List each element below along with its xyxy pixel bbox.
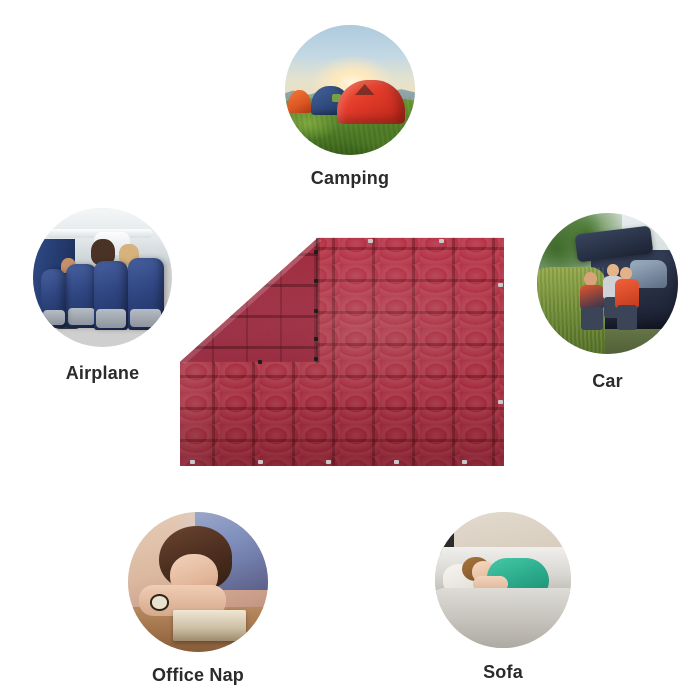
airplane-seat-2 <box>94 261 127 331</box>
blanket-body <box>180 232 504 466</box>
office-nap-book <box>173 610 246 641</box>
office-nap-wristwatch <box>152 596 167 609</box>
usecase-label-car: Car <box>537 371 678 392</box>
usecase-label-airplane: Airplane <box>33 363 172 384</box>
blanket-fold-seam <box>316 238 320 363</box>
blanket-corner-loop <box>462 460 467 464</box>
product-usecase-infographic: Camping Airplane <box>0 0 700 700</box>
usecase-label-office-nap: Office Nap <box>128 665 268 686</box>
blanket-snap-button <box>258 360 262 364</box>
blanket-corner-loop <box>326 460 331 464</box>
blanket-edge-loop <box>368 239 373 243</box>
usecase-car[interactable]: Car <box>537 213 678 398</box>
blanket-snap-button <box>314 279 318 283</box>
usecase-label-sofa: Sofa <box>435 662 571 683</box>
camping-photo <box>285 25 415 155</box>
blanket-corner-loop <box>258 460 263 464</box>
blanket-corner-loop <box>190 460 195 464</box>
blanket-edge-loop <box>439 239 444 243</box>
blanket-edge-loop <box>498 400 503 404</box>
sofa-seat-cushion <box>435 588 571 648</box>
airplane-seat-3 <box>128 258 164 330</box>
usecase-camping[interactable]: Camping <box>285 25 415 195</box>
sofa-photo <box>435 512 571 648</box>
blanket-edge-loop <box>498 283 503 287</box>
airplane-photo <box>33 208 172 347</box>
camping-tent-orange <box>288 90 311 113</box>
airplane-seat-1 <box>66 264 97 328</box>
blanket-snap-button <box>314 250 318 254</box>
usecase-sofa[interactable]: Sofa <box>435 512 571 697</box>
airplane-seat-4 <box>41 269 66 327</box>
usecase-airplane[interactable]: Airplane <box>33 208 172 388</box>
usecase-label-camping: Camping <box>285 168 415 189</box>
blanket-corner-loop <box>394 460 399 464</box>
car-photo <box>537 213 678 354</box>
office-nap-photo <box>128 512 268 652</box>
car-person-woman <box>615 267 642 329</box>
product-image-quilted-blanket <box>180 232 504 466</box>
usecase-office-nap[interactable]: Office Nap <box>128 512 268 697</box>
